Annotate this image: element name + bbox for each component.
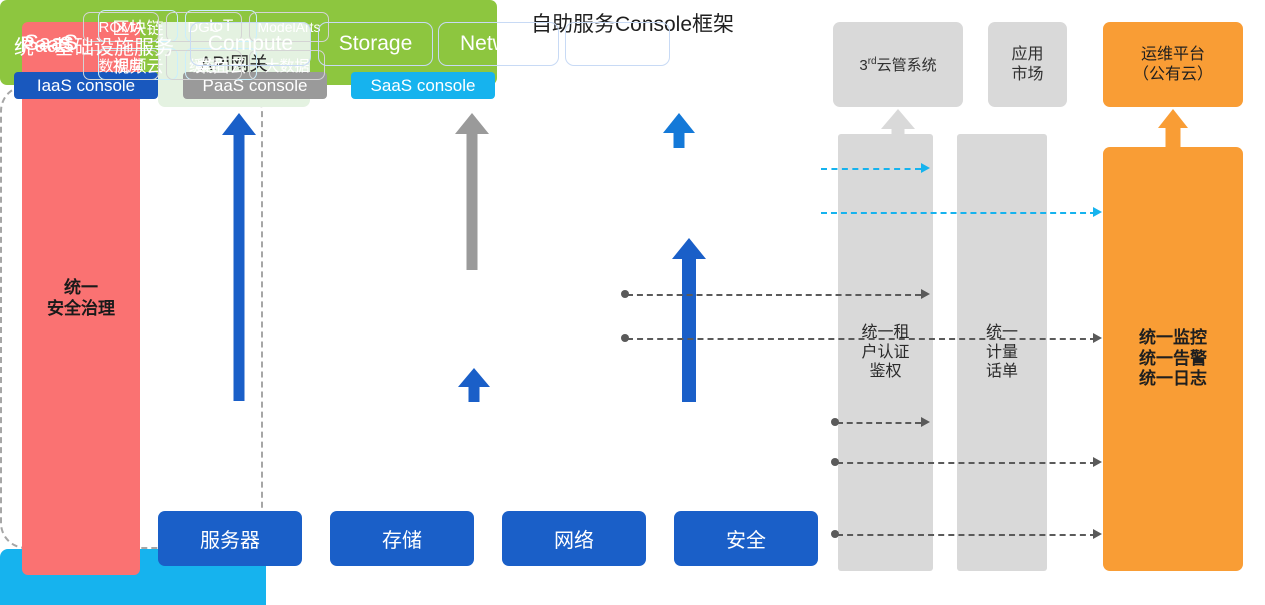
security-governance-label: 统一 安全治理 [47,278,115,319]
dashed-line-hardware-ops [837,534,1096,536]
unified-tenant-auth-column: 统一租 户认证 鉴权 [838,134,933,571]
arrow-infra-to-api-gateway [222,113,256,401]
ops-platform-box: 运维平台 （公有云） [1103,22,1243,107]
dashed-line-saas-auth [821,168,921,170]
unified-metering-label: 统一 计量 话单 [986,323,1018,382]
security-governance-panel: 统一 安全治理 [22,22,140,575]
dashed-arrowhead-infra-auth [921,417,930,427]
dashed-arrowhead-saas-auth [921,163,930,173]
dashed-arrowhead-hardware-ops [1093,529,1102,539]
unified-infrastructure-label: 统一基础设施服务 [14,31,174,60]
arrow-shared-to-third-cloud [881,109,915,139]
dashed-arrowhead-saas-ops [1093,207,1102,217]
ops-platform-label: 运维平台 （公有云） [1133,45,1213,84]
app-market-label: 应用 市场 [1011,45,1043,84]
third-party-cloud-mgmt-box: 3rd云管系统 [833,22,963,107]
ops-monitoring-bar: 统一监控 统一告警 统一日志 [1103,147,1243,571]
hardware-box-storage: 存储 [330,511,474,566]
hardware-label-storage: 存储 [382,524,422,553]
dashed-line-infra-ops [837,462,1096,464]
infra-chip-network[interactable]: Network [438,22,559,66]
arrow-infra-to-saas [672,238,706,402]
architecture-diagram: 统一 安全治理 API网关 自助服务Console框架 IaaS console… [0,0,1265,605]
dashed-arrowhead-paas-auth [921,289,930,299]
dashed-arrowhead-paas-ops [1093,333,1102,343]
dashed-arrowhead-infra-ops [1093,457,1102,467]
app-market-box: 应用 市场 [988,22,1067,107]
arrow-paas-to-console [455,113,489,270]
hardware-label-network: 网络 [554,524,594,553]
dashed-line-infra-auth [837,422,921,424]
infra-chip-compute[interactable]: Compute [190,22,311,66]
arrow-ops-bar-to-ops-platform [1156,109,1190,149]
dashed-line-paas-ops [627,338,1096,340]
dashed-line-saas-ops [821,212,1096,214]
arrow-saas-to-console [662,113,696,148]
infra-chip-storage[interactable]: Storage [318,22,433,66]
unified-tenant-auth-label: 统一租 户认证 鉴权 [861,323,909,382]
unified-metering-column: 统一 计量 话单 [957,134,1047,571]
hardware-box-security: 安全 [674,511,818,566]
hardware-label-server: 服务器 [200,524,260,553]
arrow-infra-to-paas [457,368,491,402]
dashed-line-paas-auth [627,294,921,296]
hardware-box-network: 网络 [502,511,646,566]
third-party-cloud-label: 3rd云管系统 [859,54,936,75]
saas-console-pill[interactable]: SaaS console [351,72,495,99]
ops-monitoring-label: 统一监控 统一告警 统一日志 [1139,328,1207,390]
infra-chip-cce[interactable]: CCE [565,22,670,66]
hardware-label-security: 安全 [726,524,766,553]
hardware-box-server: 服务器 [158,511,302,566]
